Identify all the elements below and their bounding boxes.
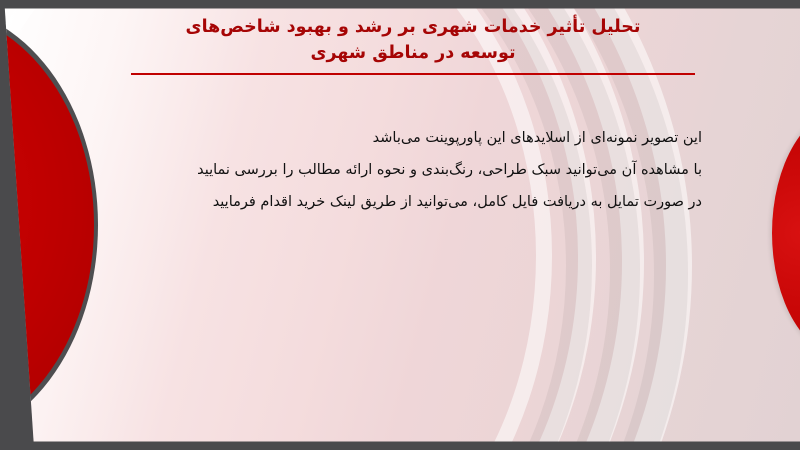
title-underline-rule [131,73,695,75]
title-line-2: توسعه در مناطق شهری [130,40,696,66]
body-line-1: این تصویر نمونه‌ای از اسلایدهای این پاور… [98,122,702,154]
arc-band-2 [0,0,688,450]
title-line-1: تحلیل تأثیر خدمات شهری بر رشد و بهبود شا… [130,14,696,40]
background-arc-texture [0,0,800,450]
presentation-slide: تحلیل تأثیر خدمات شهری بر رشد و بهبود شا… [0,0,800,450]
slide-title: تحلیل تأثیر خدمات شهری بر رشد و بهبود شا… [130,14,696,66]
slide-body-text: این تصویر نمونه‌ای از اسلایدهای این پاور… [98,122,702,218]
arc-band-1 [0,0,692,450]
slide-content-plate: تحلیل تأثیر خدمات شهری بر رشد و بهبود شا… [0,0,800,450]
body-line-2: با مشاهده آن می‌توانید سبک طراحی، رنگ‌بن… [98,154,702,186]
body-line-3: در صورت تمایل به دریافت فایل کامل، می‌تو… [98,186,702,218]
right-red-ellipse [772,108,800,358]
